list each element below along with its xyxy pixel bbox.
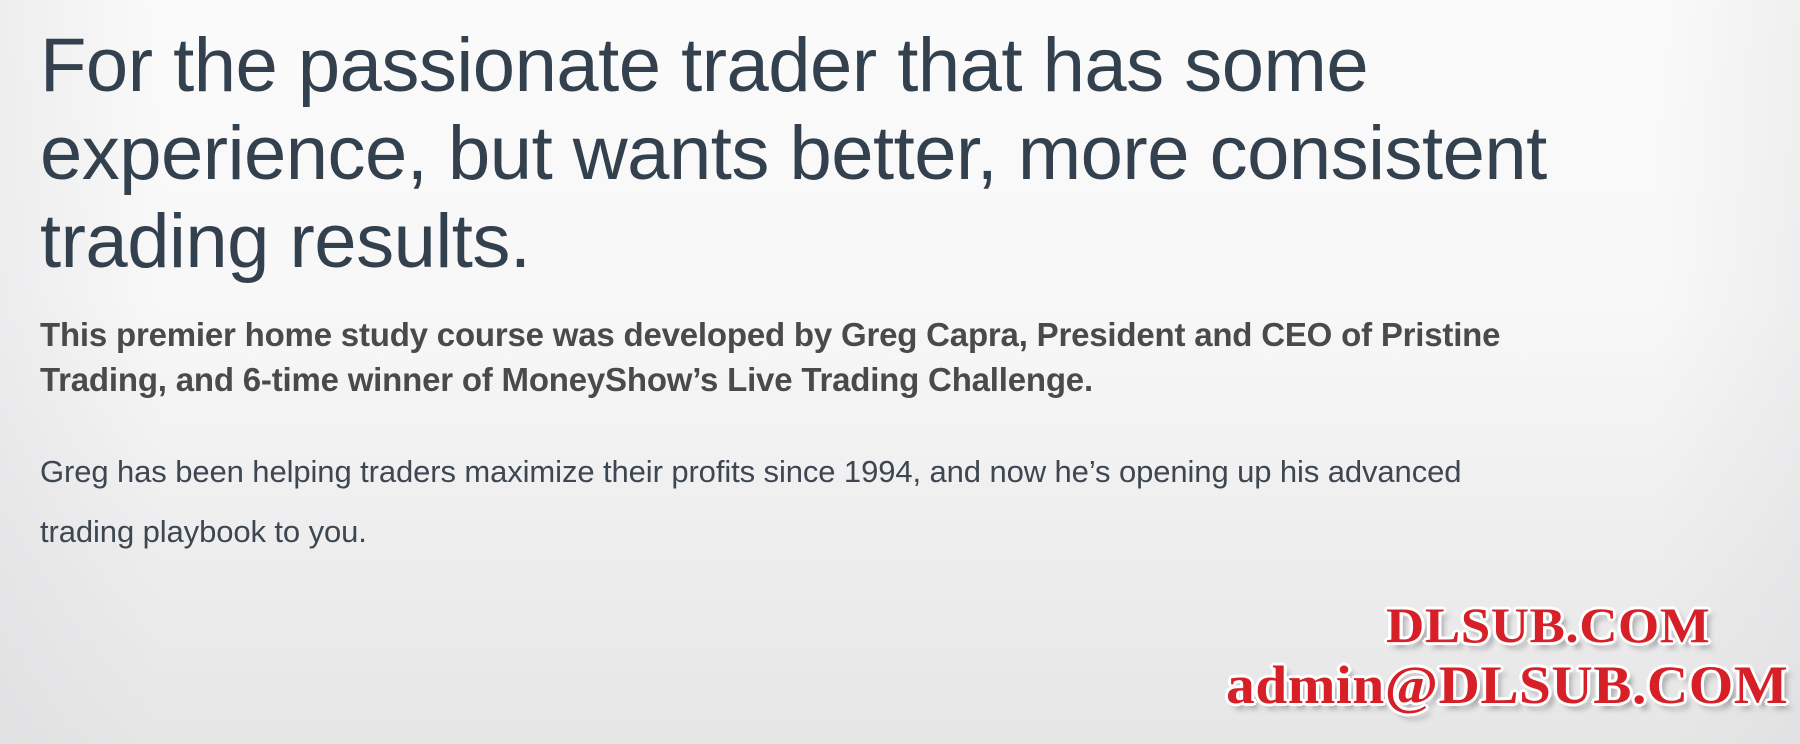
page-title: For the passionate trader that has some … <box>40 0 1560 286</box>
watermark-email-line: admin@DLSUB.COM <box>1226 654 1788 716</box>
page-root: For the passionate trader that has some … <box>0 0 1800 744</box>
lead-paragraph: This premier home study course was devel… <box>40 286 1530 402</box>
body-paragraph: Greg has been helping traders maximize t… <box>40 402 1520 562</box>
watermark-site-line: DLSUB.COM <box>1231 596 1710 654</box>
watermark: DLSUB.COM admin@DLSUB.COM <box>1258 596 1788 716</box>
hero-content: For the passionate trader that has some … <box>0 0 1800 562</box>
